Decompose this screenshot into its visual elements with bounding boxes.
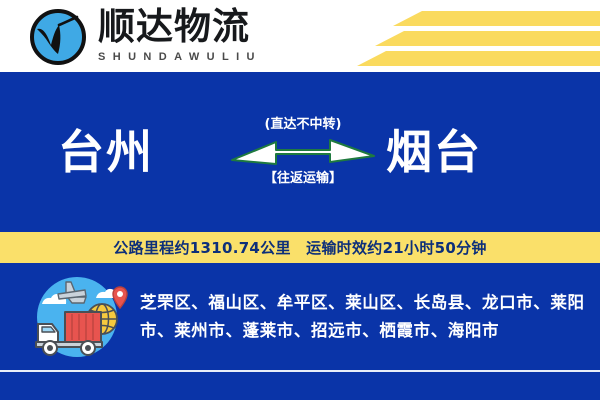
brand-name-cn: 顺达物流	[98, 6, 262, 48]
logistics-route-banner: 顺达物流 SHUNDAWULIU 台州 (直达不中转) 【往返运输】 烟台 公路…	[0, 0, 600, 400]
distance-duration-bar: 公路里程约1310.74公里 运输时效约21小时50分钟	[0, 232, 600, 263]
double-headed-arrow-icon	[228, 136, 378, 168]
distance-duration-text: 公路里程约1310.74公里 运输时效约21小时50分钟	[113, 237, 486, 258]
logistics-truck-plane-globe-icon	[22, 272, 132, 362]
destination-city: 烟台	[386, 126, 482, 178]
brand-name-en: SHUNDAWULIU	[98, 51, 262, 64]
footer-band	[0, 372, 600, 400]
origin-city: 台州	[58, 126, 154, 178]
banner-header: 顺达物流 SHUNDAWULIU	[0, 0, 600, 72]
coverage-area-row: 芝罘区、福山区、牟平区、莱山区、长岛县、龙口市、莱阳市、莱州市、蓬莱市、招远市、…	[0, 263, 600, 370]
round-trip-note: 【往返运输】	[228, 171, 378, 187]
brand-text-group: 顺达物流 SHUNDAWULIU	[98, 6, 262, 64]
direct-service-note: (直达不中转)	[228, 117, 378, 133]
coverage-areas-text: 芝罘区、福山区、牟平区、莱山区、长岛县、龙口市、莱阳市、莱州市、蓬莱市、招远市、…	[140, 289, 586, 345]
route-row: 台州 (直达不中转) 【往返运输】 烟台	[0, 72, 600, 232]
diagonal-stripes-icon	[330, 0, 600, 72]
brand-logo-group: 顺达物流 SHUNDAWULIU	[28, 6, 262, 67]
shunda-circle-w-logo-icon	[28, 7, 88, 67]
route-middle-group: (直达不中转) 【往返运输】	[228, 117, 378, 187]
